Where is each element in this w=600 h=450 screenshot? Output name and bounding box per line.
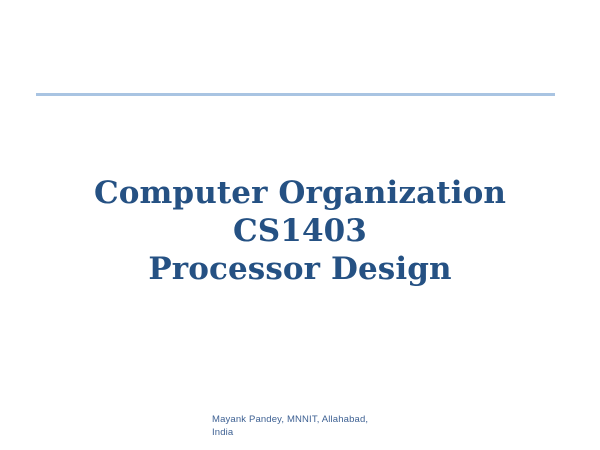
title-line-topic: Processor Design (0, 250, 600, 288)
author-credit: Mayank Pandey, MNNIT, Allahabad, India (212, 413, 472, 439)
author-credit-line-2: India (212, 426, 472, 439)
title-slide: Computer Organization CS1403 Processor D… (0, 0, 600, 450)
slide-title: Computer Organization CS1403 Processor D… (0, 174, 600, 288)
header-divider-rule (36, 93, 555, 96)
title-line-course-code: CS1403 (0, 212, 600, 250)
author-credit-line-1: Mayank Pandey, MNNIT, Allahabad, (212, 413, 472, 426)
title-line-course-name: Computer Organization (0, 174, 600, 212)
